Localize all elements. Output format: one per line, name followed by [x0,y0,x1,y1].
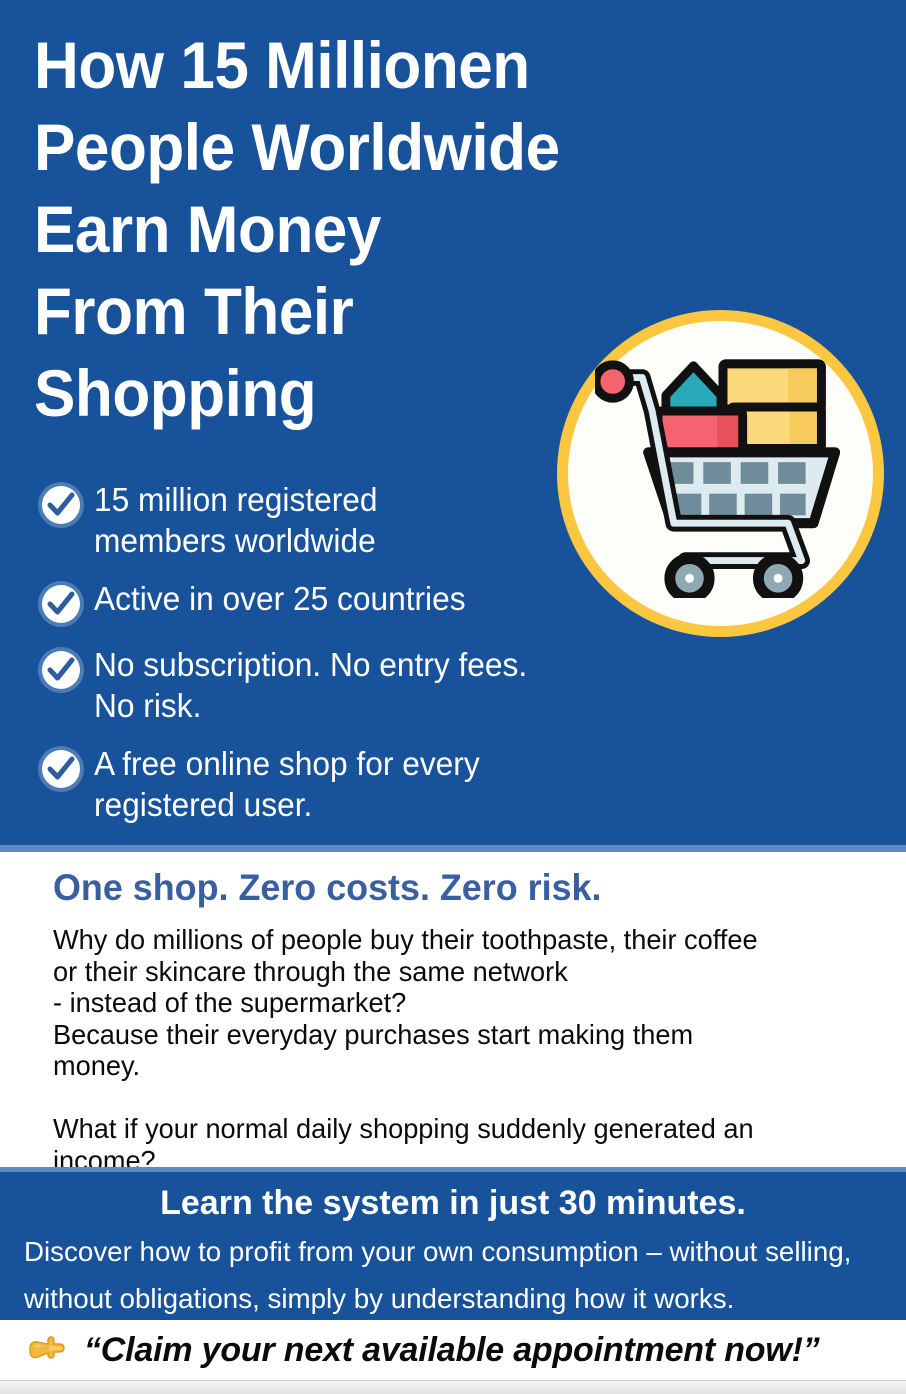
claim-label: “Claim your next available appointment n… [84,1330,820,1370]
check-circle-icon [38,581,84,627]
page-title: How 15 Millionen People Worldwide Earn M… [34,24,636,434]
list-item: A free online shop for every registered … [38,742,613,825]
list-item-label: 15 million registered members worldwide [94,478,378,561]
flyer-page: How 15 Millionen People Worldwide Earn M… [0,0,906,1394]
check-circle-icon [38,746,84,792]
footer-strip [0,1380,906,1394]
cta-subtext: Discover how to profit from your own con… [24,1228,881,1322]
hero-divider [0,845,906,852]
hero-section: How 15 Millionen People Worldwide Earn M… [0,0,906,845]
shopping-cart-icon [595,350,847,598]
check-circle-icon [38,647,84,693]
list-item: No subscription. No entry fees. No risk. [38,643,613,726]
list-item-label: Active in over 25 countries [94,577,466,619]
list-item: 15 million registered members worldwide [38,478,613,561]
explainer-section: One shop. Zero costs. Zero risk. Why do … [0,852,906,1167]
benefit-list: 15 million registered members worldwide … [38,478,613,825]
check-circle-icon [38,482,84,528]
list-item-label: No subscription. No entry fees. No risk. [94,643,527,726]
pointing-right-hand-icon [26,1330,70,1370]
section-body: Why do millions of people buy their toot… [53,924,839,1176]
claim-bar[interactable]: “Claim your next available appointment n… [0,1320,906,1380]
cta-section: Learn the system in just 30 minutes. Dis… [0,1167,906,1320]
list-item: Active in over 25 countries [38,577,613,627]
list-item-label: A free online shop for every registered … [94,742,480,825]
cta-heading: Learn the system in just 30 minutes. [0,1183,906,1223]
section-heading: One shop. Zero costs. Zero risk. [53,866,601,910]
